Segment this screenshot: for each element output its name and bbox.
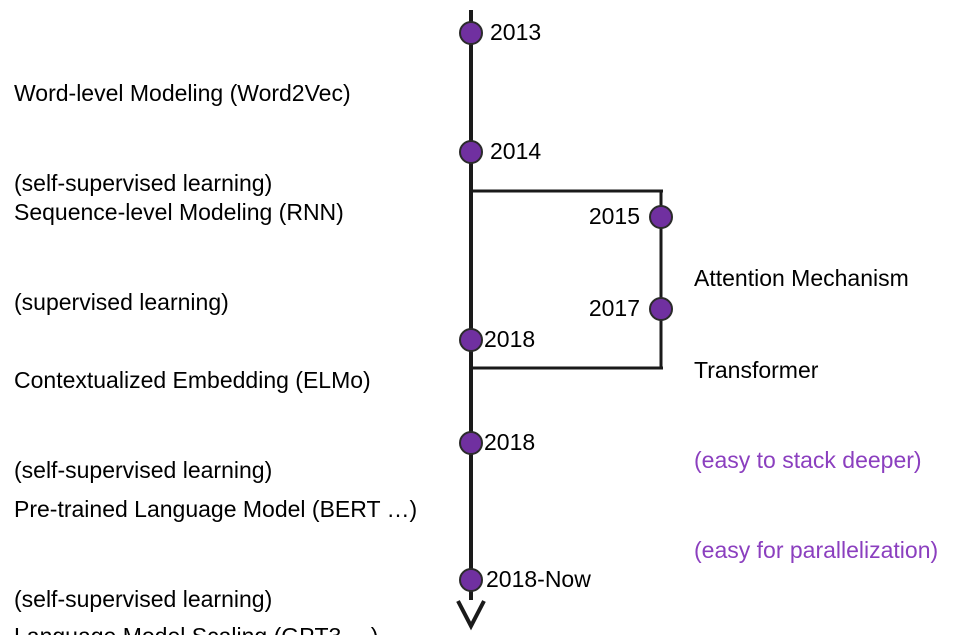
event-title-rnn: Sequence-level Modeling (RNN): [14, 197, 344, 227]
event-title-elmo: Contextualized Embedding (ELMo): [14, 365, 371, 395]
timeline-diagram-canvas: Word-level Modeling (Word2Vec) (self-sup…: [0, 0, 965, 635]
timeline-node-2017-transformer[interactable]: [650, 298, 672, 320]
event-title-word2vec: Word-level Modeling (Word2Vec): [14, 78, 351, 108]
year-label-2018-now-gpt3: 2018-Now: [486, 566, 591, 592]
timeline-node-2015-attention[interactable]: [650, 206, 672, 228]
event-title-bert: Pre-trained Language Model (BERT …): [14, 494, 417, 524]
year-label-2018-bert: 2018: [484, 429, 535, 455]
year-label-2017: 2017: [520, 295, 640, 321]
event-title-gpt3: Language Model Scaling (GPT3 …): [14, 621, 378, 635]
year-label-2013: 2013: [490, 19, 541, 45]
event-note-transformer-1: (easy to stack deeper): [694, 445, 938, 475]
event-label-transformer: Transformer (easy to stack deeper) (easy…: [694, 295, 938, 625]
event-title-transformer: Transformer: [694, 355, 938, 385]
event-note-transformer-2: (easy for parallelization): [694, 535, 938, 565]
timeline-node-2018-bert[interactable]: [460, 432, 482, 454]
year-label-2018-elmo: 2018: [484, 326, 535, 352]
timeline-node-2018-now-gpt3[interactable]: [460, 569, 482, 591]
timeline-arrowhead-icon: [458, 601, 484, 626]
timeline-node-2014[interactable]: [460, 141, 482, 163]
timeline-node-2013[interactable]: [460, 22, 482, 44]
timeline-node-2018-elmo[interactable]: [460, 329, 482, 351]
event-title-attention: Attention Mechanism: [694, 263, 909, 293]
year-label-2015: 2015: [520, 203, 640, 229]
year-label-2014: 2014: [490, 138, 541, 164]
event-label-gpt3: Language Model Scaling (GPT3 …) (self-su…: [14, 561, 378, 635]
